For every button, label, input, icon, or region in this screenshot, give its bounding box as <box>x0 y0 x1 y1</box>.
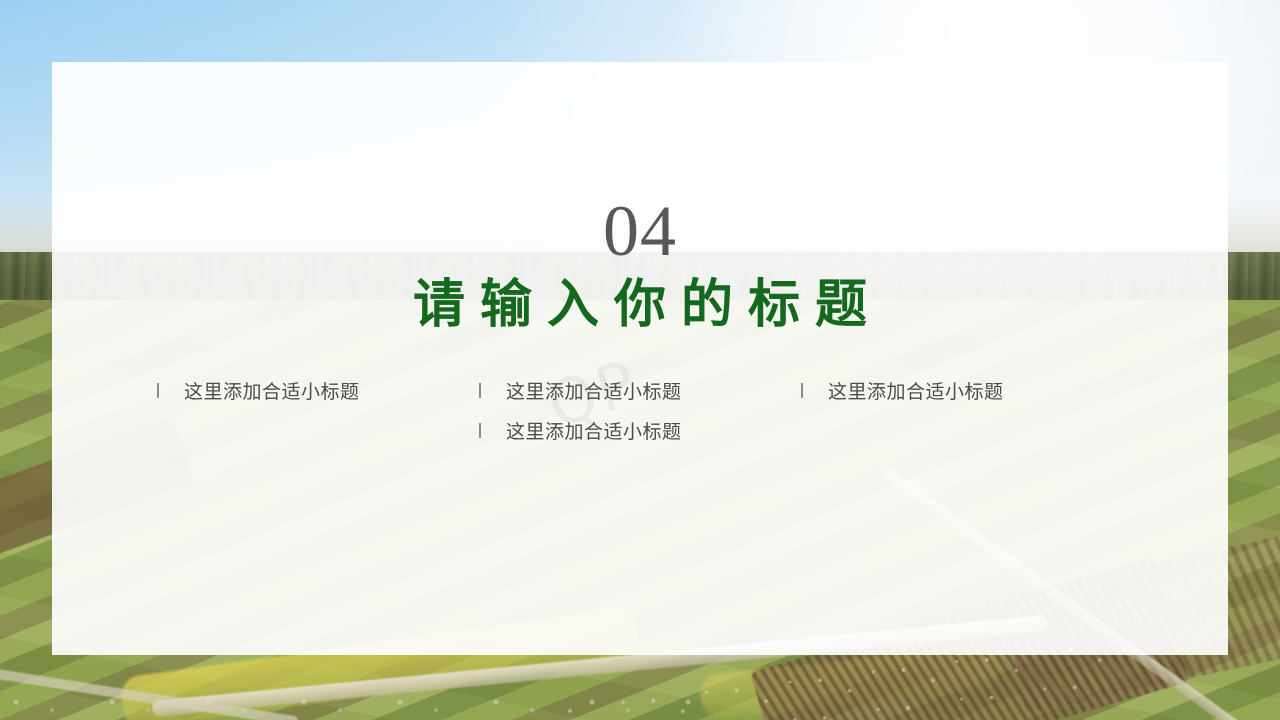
bullet-bar-icon <box>479 423 481 438</box>
bullet-bar-icon <box>479 383 481 398</box>
bullet-bar-icon <box>801 383 803 398</box>
subtitle-item[interactable]: 这里添加合适小标题 <box>479 410 801 450</box>
subtitle-label: 这里添加合适小标题 <box>828 377 1004 404</box>
page-title: 请输入你的标题 <box>52 280 1228 332</box>
photo-shrubs <box>0 688 700 720</box>
subtitle-item[interactable]: 这里添加合适小标题 <box>479 370 801 410</box>
subtitle-item[interactable]: 这里添加合适小标题 <box>801 370 1123 410</box>
subtitle-list: 这里添加合适小标题 这里添加合适小标题 这里添加合适小标题 这里添加合适小标题 <box>52 370 1228 450</box>
subtitle-label: 这里添加合适小标题 <box>506 377 682 404</box>
bullet-bar-icon <box>157 383 159 398</box>
subtitle-label: 这里添加合适小标题 <box>184 377 360 404</box>
content-card: QP 04 请输入你的标题 这里添加合适小标题 这里添加合适小标题 这里添加合适… <box>52 62 1228 655</box>
section-number: 04 <box>52 195 1228 267</box>
presentation-slide: QP 04 请输入你的标题 这里添加合适小标题 这里添加合适小标题 这里添加合适… <box>0 0 1280 720</box>
subtitle-label: 这里添加合适小标题 <box>506 417 682 444</box>
subtitle-item[interactable]: 这里添加合适小标题 <box>157 370 479 410</box>
